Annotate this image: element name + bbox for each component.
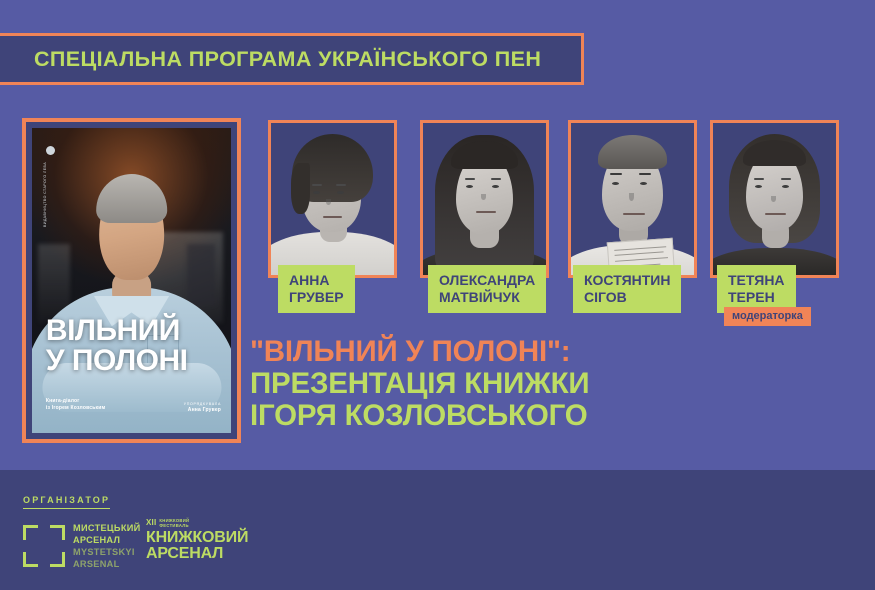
book-cover-footer: Книга-діалог із Ігорем Козловським УПОРЯ… <box>46 398 221 414</box>
portrait-1-brow-left <box>312 184 322 186</box>
speaker-3-name-line1: КОСТЯНТИН <box>584 272 670 289</box>
book-cover-title: ВІЛЬНИЙ У ПОЛОНІ <box>46 316 223 375</box>
speaker-card-tetiana-teren: ТЕТЯНА ТЕРЕН модераторка <box>710 120 839 278</box>
speaker-card-anna-hruver: АННА ГРУВЕР <box>268 120 397 278</box>
speaker-photo-frame-2 <box>420 120 549 278</box>
portrait-4-brow-right <box>781 178 791 180</box>
ka-roman-numeral: XII <box>146 518 156 527</box>
mystetskyi-arsenal-wordmark: МИСТЕЦЬКИЙ АРСЕНАЛ MYSTETSKYI ARSENAL <box>73 522 141 571</box>
ma-line1: МИСТЕЦЬКИЙ <box>73 522 141 534</box>
speaker-2-name-line1: ОЛЕКСАНДРА <box>439 272 535 289</box>
event-title-line3: ІГОРЯ КОЗЛОВСЬКОГО <box>250 400 720 432</box>
ka-festival-edition: XII КНИЖКОВИЙ ФЕСТИВАЛЬ <box>146 518 248 529</box>
portrait-2-brow-left <box>465 178 475 180</box>
book-cover-title-line1: ВІЛЬНИЙ <box>46 316 223 345</box>
ka-festival-caption: КНИЖКОВИЙ ФЕСТИВАЛЬ <box>159 518 189 529</box>
book-cover-subtitle-line1: Книга-діалог <box>46 398 105 406</box>
book-cover-artwork: ВИДАВНИЦТВО СТАРОГО ЛЕВА ВІЛЬНИЙ У ПОЛОН… <box>32 128 231 433</box>
speaker-portrait-3 <box>571 123 694 275</box>
speaker-name-tag-3: КОСТЯНТИН СІГОВ <box>573 265 681 313</box>
event-poster: СПЕЦІАЛЬНА ПРОГРАМА УКРАЇНСЬКОГО ПЕН ВИД… <box>0 0 875 590</box>
speaker-name-tag-2: ОЛЕКСАНДРА МАТВІЙЧУК <box>428 265 546 313</box>
book-cover-compiler: УПОРЯДКУВАЛА Анна Грувер <box>184 401 221 413</box>
portrait-1-mouth <box>323 216 343 218</box>
speaker-portrait-2 <box>423 123 546 275</box>
book-cover-publisher-spine: ВИДАВНИЦТВО СТАРОГО ЛЕВА <box>43 162 48 227</box>
portrait-3-mouth <box>623 213 645 215</box>
speaker-1-name-line2: ГРУВЕР <box>289 289 344 306</box>
ka-big-line2: АРСЕНАЛ <box>146 546 248 562</box>
portrait-4-nose <box>771 196 776 202</box>
special-program-banner-text: СПЕЦІАЛЬНА ПРОГРАМА УКРАЇНСЬКОГО ПЕН <box>0 47 541 72</box>
portrait-2-mouth <box>476 211 496 213</box>
book-cover-window-dark <box>187 244 215 305</box>
speaker-photo-frame-3 <box>568 120 697 278</box>
speaker-photo-frame-1 <box>268 120 397 278</box>
speaker-4-name-line1: ТЕТЯНА <box>728 272 785 289</box>
speaker-2-name-line2: МАТВІЙЧУК <box>439 289 535 306</box>
ka-big-line1: КНИЖКОВИЙ <box>146 530 248 546</box>
speaker-portrait-4 <box>713 123 836 275</box>
speaker-card-oleksandra-matviichuk: ОЛЕКСАНДРА МАТВІЙЧУК <box>420 120 549 278</box>
portrait-1-hair-side <box>291 163 311 215</box>
portrait-4-mouth <box>765 213 786 215</box>
speaker-1-name-line1: АННА <box>289 272 344 289</box>
book-cover-subtitle: Книга-діалог із Ігорем Козловським <box>46 398 105 414</box>
ma-line3: MYSTETSKYI <box>73 546 141 558</box>
portrait-3-hair <box>598 135 667 168</box>
portrait-4-brow-left <box>754 178 764 180</box>
speaker-card-kostiantyn-sihov: КОСТЯНТИН СІГОВ <box>568 120 697 278</box>
portrait-2-brow-right <box>491 178 501 180</box>
speaker-3-name-line2: СІГОВ <box>584 289 670 306</box>
ka-small-line2: ФЕСТИВАЛЬ <box>159 523 189 528</box>
special-program-banner: СПЕЦІАЛЬНА ПРОГРАМА УКРАЇНСЬКОГО ПЕН <box>0 33 584 85</box>
logo-knyzhkovyi-arsenal[interactable]: XII КНИЖКОВИЙ ФЕСТИВАЛЬ КНИЖКОВИЙ АРСЕНА… <box>146 518 248 562</box>
portrait-3-nose <box>629 193 634 201</box>
book-cover-title-line2: У ПОЛОНІ <box>46 346 223 375</box>
event-title: "ВІЛЬНИЙ У ПОЛОНІ": ПРЕЗЕНТАЦІЯ КНИЖКИ І… <box>250 336 720 432</box>
portrait-3-brow-right <box>639 173 651 175</box>
ma-line4: ARSENAL <box>73 558 141 570</box>
portrait-3-brow-left <box>610 173 622 175</box>
speaker-portrait-1 <box>271 123 394 275</box>
event-title-line1: "ВІЛЬНИЙ У ПОЛОНІ": <box>250 336 720 368</box>
logo-mystetskyi-arsenal[interactable]: МИСТЕЦЬКИЙ АРСЕНАЛ MYSTETSKYI ARSENAL <box>23 522 141 571</box>
speaker-name-tag-4: ТЕТЯНА ТЕРЕН <box>717 265 796 313</box>
book-cover-compiler-name: Анна Грувер <box>184 407 221 413</box>
speaker-photo-frame-4 <box>710 120 839 278</box>
speaker-4-name-line2: ТЕРЕН <box>728 289 785 306</box>
portrait-1-brow-right <box>336 184 346 186</box>
arsenal-bracket-icon <box>23 525 65 567</box>
ma-line2: АРСЕНАЛ <box>73 534 141 546</box>
book-cover-subtitle-line2: із Ігорем Козловським <box>46 405 105 413</box>
poster-footer: ОРГАНІЗАТОР МИСТЕЦЬКИЙ АРСЕНАЛ MYSTETSKY… <box>0 470 875 590</box>
organizer-label: ОРГАНІЗАТОР <box>23 495 110 509</box>
book-cover: ВИДАВНИЦТВО СТАРОГО ЛЕВА ВІЛЬНИЙ У ПОЛОН… <box>22 118 241 443</box>
speaker-name-tag-1: АННА ГРУВЕР <box>278 265 355 313</box>
speaker-4-role-badge: модераторка <box>724 307 811 326</box>
event-title-line2: ПРЕЗЕНТАЦІЯ КНИЖКИ <box>250 368 720 400</box>
